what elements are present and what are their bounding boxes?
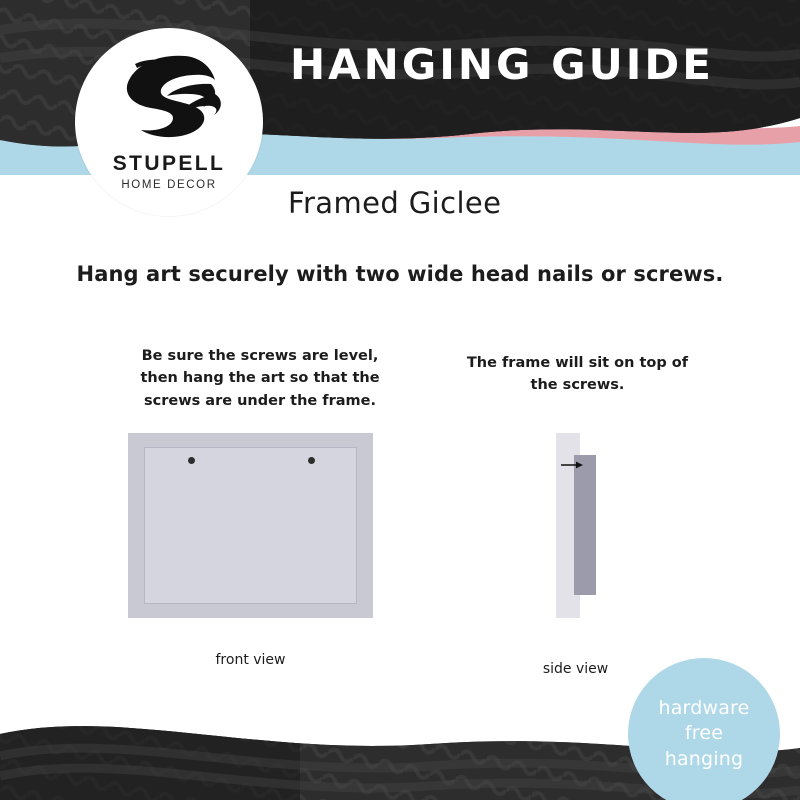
right-arrow-icon	[561, 455, 583, 465]
side-view-frame	[574, 455, 596, 595]
front-view-art-mat	[144, 447, 357, 604]
brand-name: STUPELL	[75, 152, 263, 176]
badge-line-2: free	[685, 721, 723, 746]
page-title: HANGING GUIDE	[290, 40, 714, 89]
stupell-swoosh-logo-icon	[115, 50, 223, 142]
screw-dot-left	[188, 457, 195, 464]
screw-dot-right	[308, 457, 315, 464]
brand-logo-badge: STUPELL HOME DECOR	[75, 28, 263, 216]
side-view-caption: The frame will sit on top of the screws.	[465, 352, 690, 397]
hanging-guide-page: HANGING GUIDE STUPELL HOME DECOR Framed …	[0, 0, 800, 800]
front-view-label: front view	[128, 652, 373, 668]
front-view-frame	[128, 433, 373, 618]
front-view-caption: Be sure the screws are level, then hang …	[140, 345, 380, 412]
badge-line-1: hardware	[658, 696, 749, 721]
product-type-label: Framed Giclee	[288, 186, 501, 220]
instruction-text: Hang art securely with two wide head nai…	[0, 262, 800, 286]
badge-line-3: hanging	[665, 747, 744, 772]
hardware-free-badge: hardware free hanging	[628, 658, 780, 800]
brand-tagline: HOME DECOR	[75, 179, 263, 191]
